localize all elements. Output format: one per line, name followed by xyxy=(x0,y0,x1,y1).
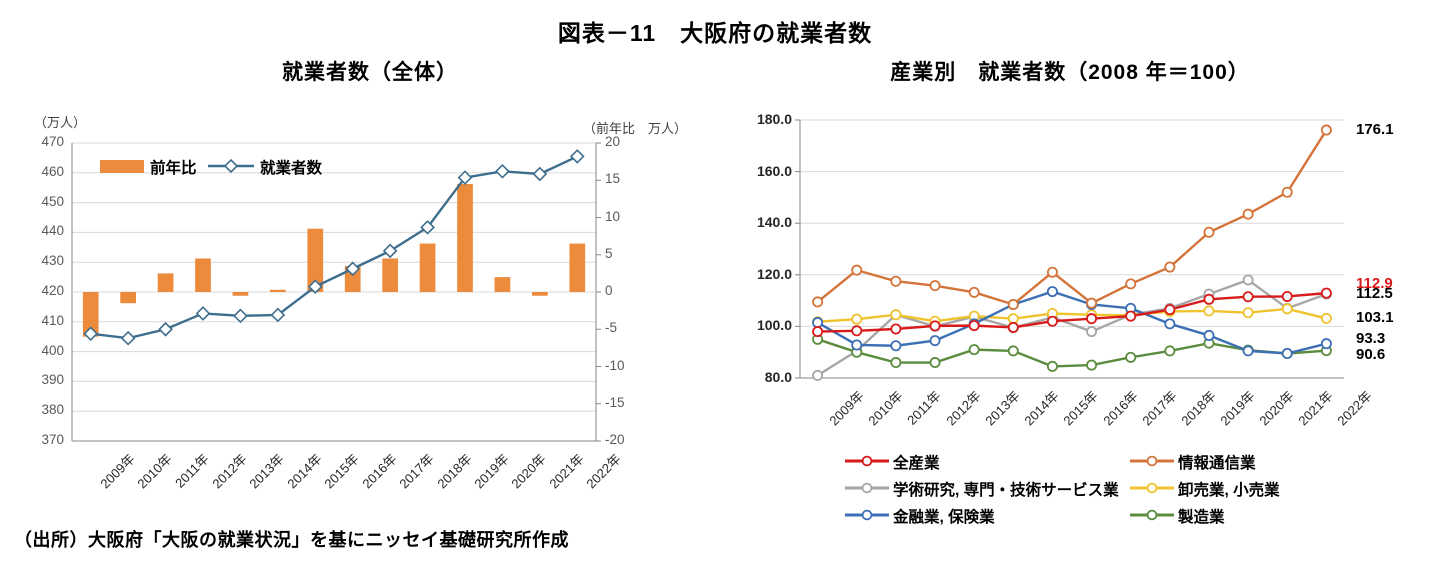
marker-0-2020年 xyxy=(1244,292,1253,301)
marker-1-2011年 xyxy=(891,277,900,286)
marker-0-2011年 xyxy=(891,324,900,333)
right-legend-label-5: 製造業 xyxy=(1178,505,1225,527)
right-chart-ytick: 160.0 xyxy=(738,163,792,179)
marker-4-2018年 xyxy=(1165,319,1174,328)
right-chart-end-label-5: 90.6 xyxy=(1356,346,1385,363)
marker-3-2021年 xyxy=(1283,304,1292,313)
right-legend-swatch-1 xyxy=(1130,454,1174,468)
marker-0-2012年 xyxy=(930,321,939,330)
marker-0-2016年 xyxy=(1087,314,1096,323)
right-legend-label-3: 卸売業, 小売業 xyxy=(1178,478,1280,500)
marker-1-2019年 xyxy=(1204,228,1213,237)
marker-1-2014年 xyxy=(1009,300,1018,309)
marker-5-2015年 xyxy=(1048,362,1057,371)
marker-1-2018年 xyxy=(1165,262,1174,271)
marker-0-2019年 xyxy=(1204,295,1213,304)
marker-4-2011年 xyxy=(891,341,900,350)
marker-0-2022年 xyxy=(1322,289,1331,298)
right-legend-label-2: 学術研究, 専門・技術サービス業 xyxy=(893,478,1119,500)
right-chart-end-label-2: 112.5 xyxy=(1356,285,1393,302)
marker-0-2009年 xyxy=(813,327,822,336)
right-chart-end-label-3: 103.1 xyxy=(1356,309,1394,326)
marker-4-2010年 xyxy=(852,340,861,349)
right-chart-end-label-0: 176.1 xyxy=(1356,121,1394,138)
marker-2-2020年 xyxy=(1244,275,1253,284)
right-chart-end-label-4: 93.3 xyxy=(1356,330,1385,347)
marker-1-2015年 xyxy=(1048,268,1057,277)
marker-0-2021年 xyxy=(1283,292,1292,301)
right-legend-swatch-5 xyxy=(1130,508,1174,522)
right-legend-swatch-3 xyxy=(1130,481,1174,495)
right-legend-swatch-4 xyxy=(845,508,889,522)
marker-5-2017年 xyxy=(1126,353,1135,362)
marker-1-2013年 xyxy=(970,288,979,297)
source-note: （出所）大阪府「大阪の就業状況」を基にニッセイ基礎研究所作成 xyxy=(14,526,569,552)
marker-1-2017年 xyxy=(1126,279,1135,288)
marker-0-2014年 xyxy=(1009,323,1018,332)
marker-0-2010年 xyxy=(852,326,861,335)
marker-4-2020年 xyxy=(1244,346,1253,355)
marker-4-2012年 xyxy=(930,336,939,345)
right-legend-label-4: 金融業, 保険業 xyxy=(893,505,995,527)
marker-5-2011年 xyxy=(891,358,900,367)
marker-0-2013年 xyxy=(970,321,979,330)
marker-0-2017年 xyxy=(1126,311,1135,320)
marker-2-2009年 xyxy=(813,371,822,380)
marker-4-2022年 xyxy=(1322,339,1331,348)
marker-2-2016年 xyxy=(1087,327,1096,336)
marker-3-2010年 xyxy=(852,315,861,324)
right-legend-swatch-2 xyxy=(845,481,889,495)
marker-1-2021年 xyxy=(1283,188,1292,197)
marker-3-2019年 xyxy=(1204,306,1213,315)
marker-4-2021年 xyxy=(1283,349,1292,358)
marker-4-2009年 xyxy=(813,318,822,327)
right-chart-ytick: 120.0 xyxy=(738,266,792,282)
marker-3-2011年 xyxy=(891,310,900,319)
marker-3-2014年 xyxy=(1009,314,1018,323)
right-chart-ytick: 100.0 xyxy=(738,317,792,333)
marker-5-2013年 xyxy=(970,345,979,354)
marker-5-2018年 xyxy=(1165,346,1174,355)
marker-1-2010年 xyxy=(852,266,861,275)
marker-4-2015年 xyxy=(1048,287,1057,296)
marker-5-2012年 xyxy=(930,358,939,367)
marker-1-2009年 xyxy=(813,297,822,306)
right-legend-label-1: 情報通信業 xyxy=(1178,451,1256,473)
right-chart-ytick: 80.0 xyxy=(738,369,792,385)
right-legend-label-0: 全産業 xyxy=(893,451,940,473)
marker-1-2012年 xyxy=(930,281,939,290)
marker-0-2015年 xyxy=(1048,317,1057,326)
marker-3-2022年 xyxy=(1322,314,1331,323)
right-chart-ytick: 140.0 xyxy=(738,214,792,230)
right-legend-swatch-0 xyxy=(845,454,889,468)
marker-3-2020年 xyxy=(1244,308,1253,317)
marker-1-2022年 xyxy=(1322,125,1331,134)
marker-0-2018年 xyxy=(1165,305,1174,314)
marker-5-2014年 xyxy=(1009,346,1018,355)
marker-1-2016年 xyxy=(1087,299,1096,308)
right-chart-ytick: 180.0 xyxy=(738,111,792,127)
marker-5-2016年 xyxy=(1087,361,1096,370)
marker-1-2020年 xyxy=(1244,210,1253,219)
marker-4-2019年 xyxy=(1204,331,1213,340)
